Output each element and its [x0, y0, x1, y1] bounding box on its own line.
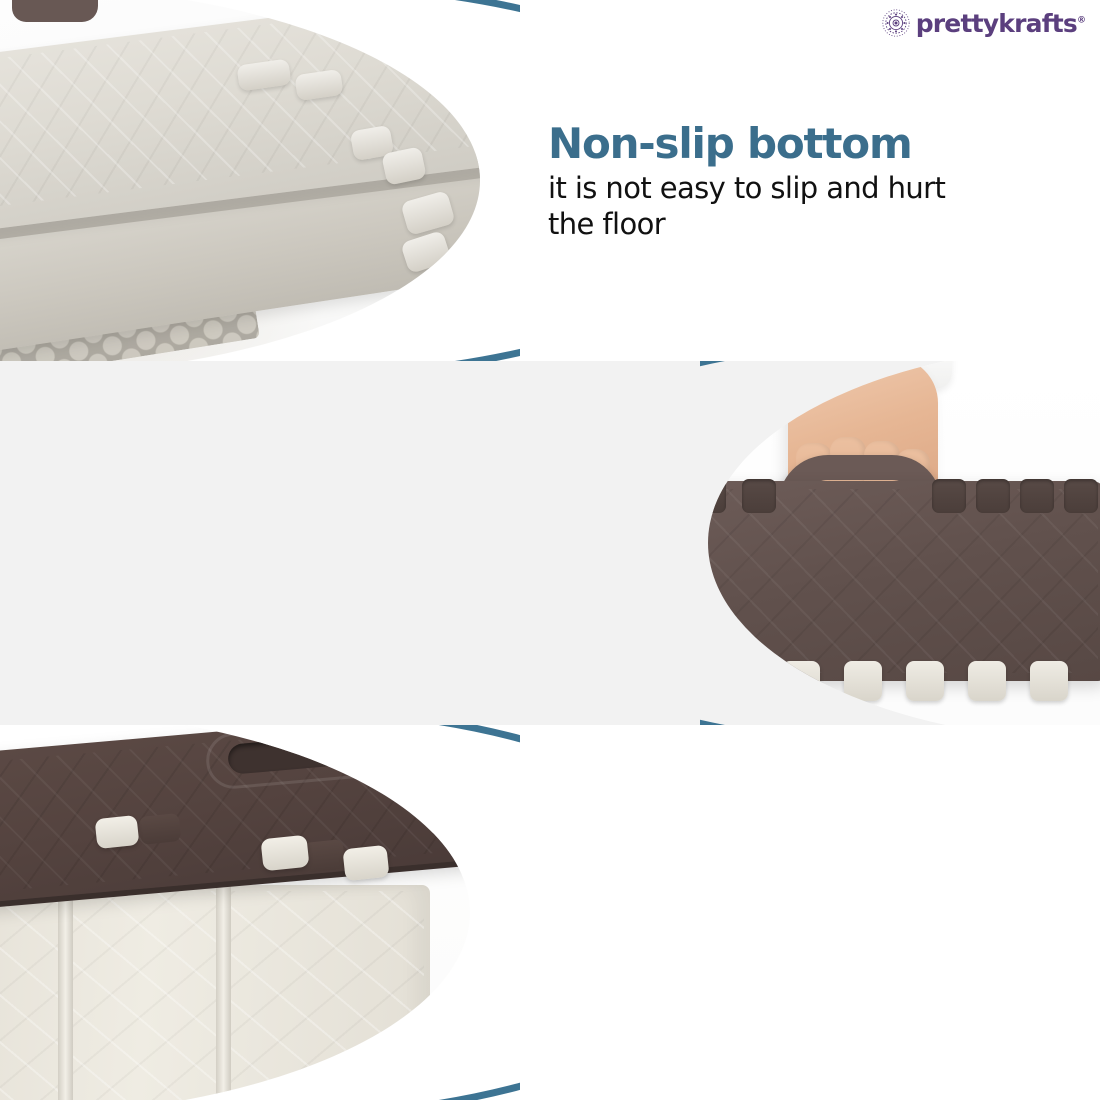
feature-body-line: it is not easy to slip and hurt: [548, 170, 945, 207]
feature-body: it is not easy to slip and hurt the floo…: [548, 170, 945, 243]
feature-image-handle-design: [700, 361, 1100, 725]
rubber-foot: [782, 661, 820, 701]
hinge-knuckle: [742, 479, 776, 513]
hinge-knuckle: [976, 479, 1010, 513]
rubber-foot: [720, 661, 758, 701]
hinge-knuckle: [1064, 479, 1098, 513]
hinge-knuckle: [260, 835, 309, 872]
rubber-foot: [906, 661, 944, 701]
hinge-knuckle: [1020, 479, 1054, 513]
trademark-symbol: ®: [1077, 15, 1086, 25]
brand-wordmark: prettykrafts®: [916, 11, 1086, 36]
feature-panel-round-corners: Round corners Safe round corner design t…: [0, 725, 1100, 1100]
hinge-knuckle: [700, 479, 726, 513]
brown-accent-piece: [12, 0, 98, 22]
panel-seam: [216, 885, 231, 1100]
hinge-knuckle: [95, 815, 140, 849]
feature-body-line: the floor: [548, 206, 945, 243]
rubber-foot: [844, 661, 882, 701]
feature-panel-non-slip-bottom: Non-slip bottom it is not easy to slip a…: [0, 0, 1100, 361]
hinge-knuckle: [932, 479, 966, 513]
rubber-foot: [968, 661, 1006, 701]
feature-heading: Non-slip bottom: [548, 122, 945, 167]
photo-clip: [0, 0, 520, 361]
mandala-flower-icon: [881, 8, 911, 38]
photo-clip: [0, 725, 520, 1100]
rubber-foot: [1030, 661, 1068, 701]
product-photo-handle: [700, 361, 1100, 725]
feature-copy-non-slip-bottom: Non-slip bottom it is not easy to slip a…: [548, 122, 945, 243]
hinge-knuckle: [342, 845, 389, 881]
hinge-knuckle: [139, 813, 182, 845]
foot-row: [700, 657, 1100, 707]
feature-panel-handle-design: Handle design it is ergonomically design…: [0, 361, 1100, 725]
brand-logo: prettykrafts®: [881, 6, 1086, 40]
product-photo-corner: [0, 725, 520, 1100]
panel-seam: [58, 885, 73, 1100]
product-feature-infographic: prettykrafts®: [0, 0, 1100, 1100]
brand-name: prettykrafts: [916, 9, 1077, 38]
photo-clip: [700, 361, 1100, 725]
hinge-row: [700, 473, 1100, 515]
feature-image-non-slip-bottom: [0, 0, 520, 361]
feature-image-round-corners: [0, 725, 520, 1100]
hinge-knuckle: [303, 839, 346, 873]
product-photo-underside: [0, 0, 520, 361]
